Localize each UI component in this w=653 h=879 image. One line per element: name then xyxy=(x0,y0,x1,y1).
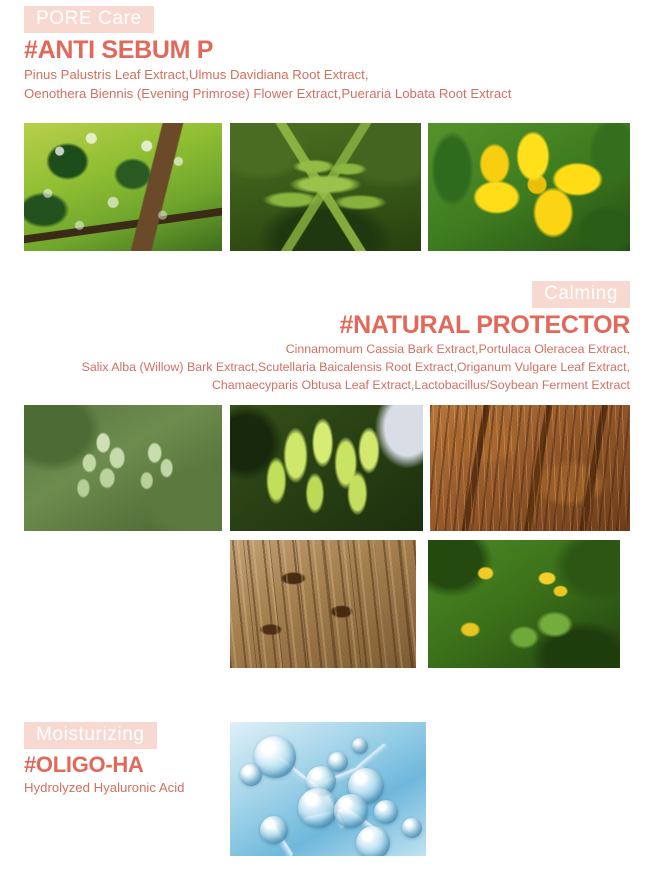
photo-chamaecyparis-obtusa xyxy=(230,405,423,531)
photo-evening-primrose-flower xyxy=(428,123,630,251)
photo-cinnamomum-cassia-bark xyxy=(430,405,630,531)
section-calming: Calming #NATURAL PROTECTOR Cinnamomum Ca… xyxy=(0,281,653,394)
ingredient-list-pore-care: Pinus Palustris Leaf Extract,Ulmus David… xyxy=(24,66,653,103)
photo-artwork xyxy=(428,540,620,668)
photo-artwork xyxy=(428,123,630,251)
section-pore-care: PORE Care #ANTI SEBUM P Pinus Palustris … xyxy=(0,6,653,104)
ingredient-line: Cinnamomum Cassia Bark Extract,Portulaca… xyxy=(0,341,630,359)
badge-pore-care: PORE Care xyxy=(24,6,154,33)
photo-celandine-flowers xyxy=(428,540,620,668)
ingredient-line: Salix Alba (Willow) Bark Extract,Scutell… xyxy=(0,359,630,377)
photo-artwork xyxy=(24,405,222,531)
photo-origanum-vulgare xyxy=(24,405,222,531)
photo-artwork xyxy=(230,123,421,251)
ingredient-line: Chamaecyparis Obtusa Leaf Extract,Lactob… xyxy=(0,377,630,395)
heading-natural-protector: #NATURAL PROTECTOR xyxy=(0,311,630,341)
ingredient-list-calming: Cinnamomum Cassia Bark Extract,Portulaca… xyxy=(0,341,630,394)
badge-moisturizing: Moisturizing xyxy=(24,722,157,749)
photo-scutellaria-roots xyxy=(230,540,416,668)
photo-artwork xyxy=(230,405,423,531)
ingredient-line: Pinus Palustris Leaf Extract,Ulmus David… xyxy=(24,66,653,85)
photo-artwork xyxy=(230,540,416,668)
photo-spruce-branch xyxy=(230,123,421,251)
badge-calming: Calming xyxy=(532,281,630,308)
photo-artwork xyxy=(24,123,222,251)
heading-anti-sebum-p: #ANTI SEBUM P xyxy=(24,36,653,66)
photo-pinus-palustris-canopy xyxy=(24,123,222,251)
photo-artwork xyxy=(430,405,630,531)
photo-hyaluronic-acid-molecule xyxy=(230,722,426,856)
ingredient-line: Oenothera Biennis (Evening Primrose) Flo… xyxy=(24,85,653,104)
photo-artwork xyxy=(230,722,426,856)
